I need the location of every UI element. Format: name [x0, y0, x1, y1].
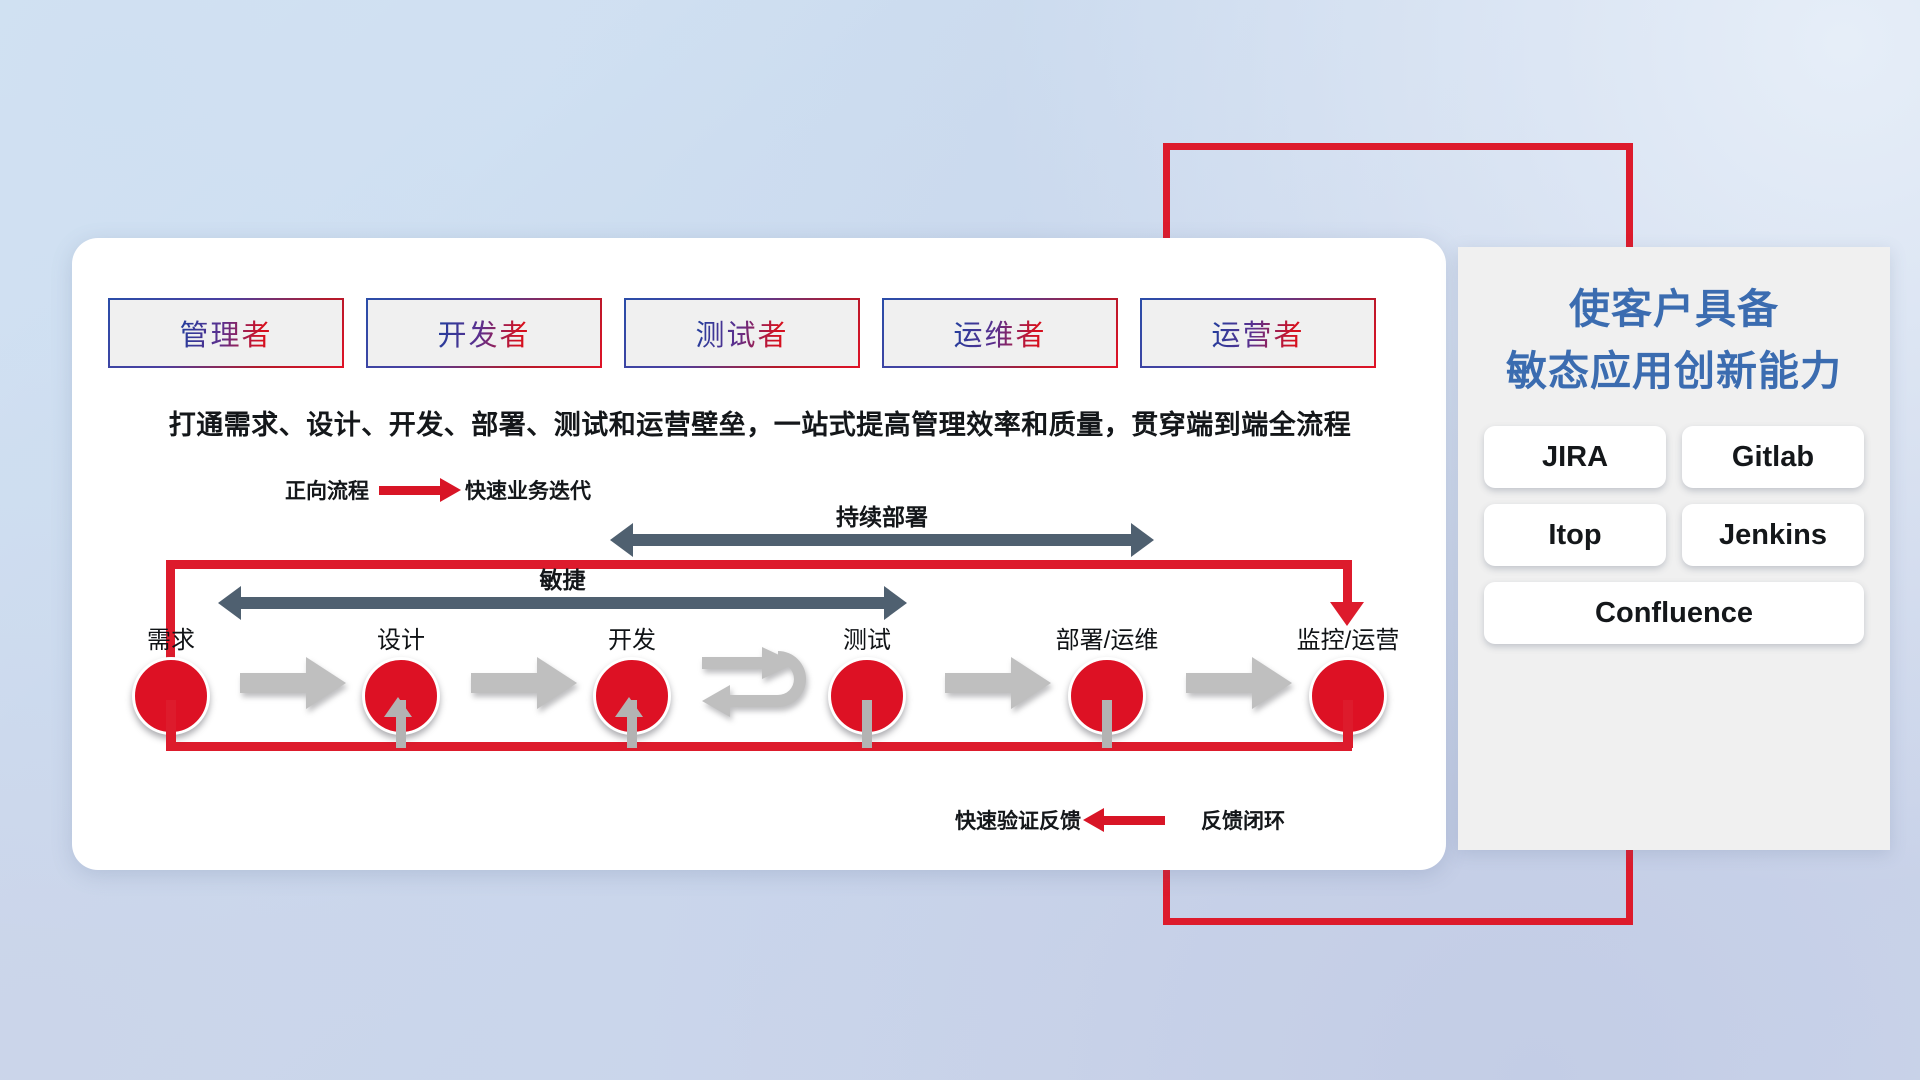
node-label: 测试: [811, 620, 923, 655]
node-label: 开发: [576, 620, 688, 655]
stem-monitor-operations: [1343, 700, 1353, 748]
node-label: 需求: [115, 620, 227, 655]
legend-feedback-loop: 快速验证反馈 反馈闭环: [955, 805, 1285, 835]
flow-arrow-testing-to-deploy-icon: [945, 655, 1051, 711]
arrow-left-red-icon: [1103, 816, 1165, 825]
stem-testing: [862, 700, 872, 748]
legend-forward-right-label: 快速业务迭代: [465, 475, 591, 505]
flow-arrow-deploy-to-monitor-icon: [1186, 655, 1292, 711]
stem-head-development-icon: [615, 697, 643, 717]
legend-forward-flow: 正向流程 快速业务迭代: [285, 475, 591, 505]
double-arrow-continuous-deployment-icon: [632, 534, 1132, 546]
span-label-agile: 敏捷: [240, 561, 885, 595]
legend-feedback-right-label: 反馈闭环: [1201, 805, 1285, 835]
node-label: 部署/运维: [1051, 620, 1163, 655]
node-label: 设计: [345, 620, 457, 655]
stem-deploy-ops: [1102, 700, 1112, 748]
span-label-continuous-deployment: 持续部署: [632, 498, 1132, 532]
node-label: 监控/运营: [1292, 620, 1404, 655]
stem-head-design-icon: [384, 697, 412, 717]
flow-arrow-requirement-to-design-icon: [240, 655, 346, 711]
legend-feedback-left-label: 快速验证反馈: [955, 805, 1081, 835]
double-arrow-agile-icon: [240, 597, 885, 609]
slide-canvas: 管理者 开发者 测试者 运维者 运营者 打通需求、设计、开发、部署、测试和运营壁…: [0, 0, 1920, 1080]
flow-arrow-design-to-development-icon: [471, 655, 577, 711]
arrow-right-red-icon: [379, 486, 441, 495]
legend-forward-left-label: 正向流程: [285, 475, 369, 505]
stem-requirement: [166, 700, 176, 748]
flow-arrow-loop-development-testing-icon: [700, 645, 812, 721]
